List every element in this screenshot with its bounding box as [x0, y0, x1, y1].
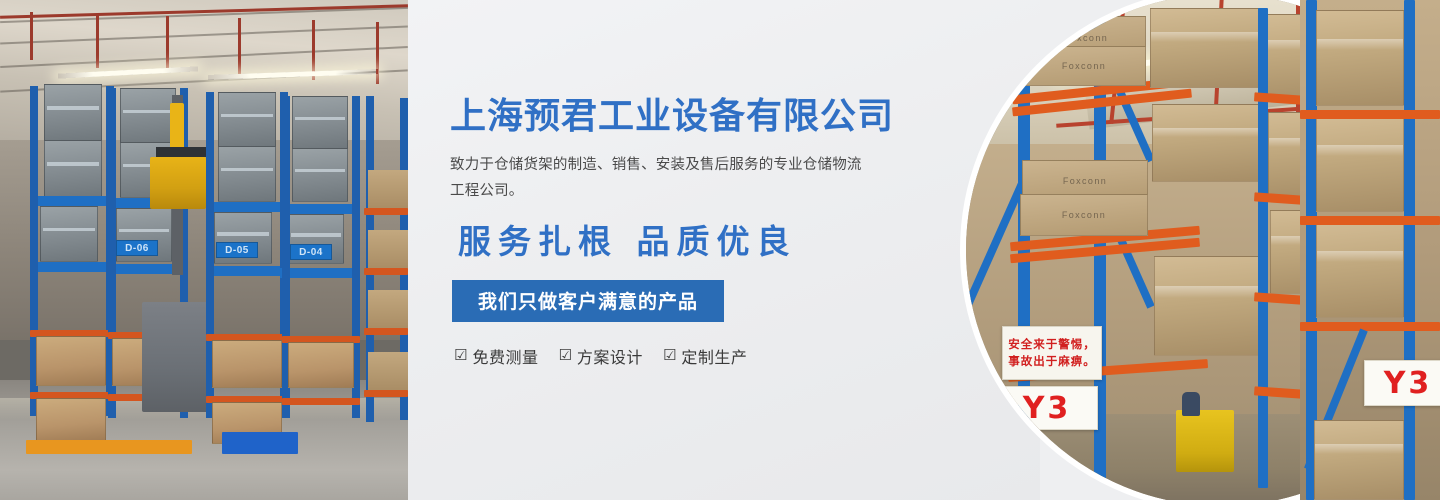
- palletized-load: [1154, 256, 1260, 356]
- rack-beam: [364, 390, 408, 397]
- stacked-tote: [44, 140, 102, 198]
- left-warehouse-photo: D-07 D-06 D: [0, 0, 408, 500]
- rack-beam: [364, 328, 408, 335]
- carton-box: [36, 398, 106, 442]
- sprinkler-drop: [238, 18, 241, 74]
- shelf-goods: [368, 290, 408, 330]
- sprinkler-drop: [30, 12, 33, 60]
- check-box-icon: ☑: [558, 348, 571, 363]
- palletized-load: [1316, 222, 1404, 318]
- picker-hook: [170, 103, 184, 149]
- palletized-load: [1152, 104, 1260, 182]
- feature-item-free-measure: ☑ 免费测量: [454, 344, 538, 368]
- right-photo-wrap: Foxconn Foxconn Foxconn Foxconn: [930, 0, 1440, 500]
- right-edge-photo-strip: Y3: [1300, 0, 1440, 500]
- company-title: 上海预君工业设备有限公司: [450, 96, 920, 137]
- rack-beam: [210, 202, 286, 212]
- company-description: 致力于仓储货架的制造、销售、安装及售后服务的专业仓储物流工程公司。: [450, 153, 865, 204]
- rack-upright: [1258, 8, 1268, 488]
- palletized-load: [1316, 10, 1404, 106]
- rack-beam: [280, 268, 358, 278]
- company-slogan: 服务扎根 品质优良: [450, 222, 920, 262]
- stacked-tote: [218, 146, 276, 202]
- foxconn-carton: Foxconn: [1022, 46, 1146, 86]
- rack-beam: [1300, 322, 1440, 331]
- rack-beam: [1300, 110, 1440, 119]
- stacked-tote: [40, 206, 98, 262]
- palletized-load: [1314, 420, 1404, 500]
- safety-sign-line-1: 安全来于警惕，: [1008, 336, 1096, 353]
- rack-beam: [206, 266, 286, 276]
- foxconn-carton: Foxconn: [1020, 194, 1148, 236]
- shelf-goods: [368, 170, 408, 210]
- feature-label: 方案设计: [577, 344, 643, 368]
- rack-label: D-05: [216, 242, 258, 258]
- stacked-tote: [218, 92, 276, 148]
- banner-content: 上海预君工业设备有限公司 致力于仓储货架的制造、销售、安装及售后服务的专业仓储物…: [450, 96, 920, 368]
- shelf-goods: [368, 230, 408, 270]
- blue-pallet: [222, 432, 298, 454]
- check-box-icon: ☑: [454, 348, 467, 363]
- carton-box: [288, 342, 354, 388]
- rack-beam: [284, 204, 358, 214]
- rack-beam: [36, 196, 112, 206]
- feature-item-plan-design: ☑ 方案设计: [558, 344, 642, 368]
- aisle-label-text: Y3: [1023, 391, 1072, 426]
- rack-beam: [282, 398, 360, 405]
- order-picker-machine: [148, 95, 208, 275]
- stacked-tote: [44, 84, 102, 142]
- picker-arm: [156, 147, 208, 157]
- safety-sign-line-2: 事故出于麻痹。: [1008, 353, 1096, 370]
- rack-beam: [364, 268, 408, 275]
- carton-box: [36, 336, 106, 386]
- shelf-goods: [368, 352, 408, 392]
- feature-list: ☑ 免费测量 ☑ 方案设计 ☑ 定制生产: [450, 344, 920, 368]
- forklift-operator: [1182, 392, 1200, 416]
- rack-foot: [100, 440, 192, 454]
- palletized-load: [1316, 116, 1404, 212]
- stacked-tote: [292, 148, 348, 202]
- sprinkler-drop: [166, 16, 169, 68]
- rack-upright: [1404, 0, 1415, 500]
- cta-button[interactable]: 我们只做客户满意的产品: [452, 280, 724, 322]
- feature-label: 免费测量: [472, 344, 538, 368]
- picker-base: [142, 302, 208, 412]
- aisle-label-sign-edge: Y3: [1364, 360, 1440, 406]
- palletized-load: [1150, 8, 1260, 88]
- sprinkler-drop: [376, 22, 379, 84]
- rack-beam: [1300, 216, 1440, 225]
- check-box-icon: ☑: [663, 348, 676, 363]
- forklift: [1176, 410, 1234, 472]
- rack-beam: [364, 208, 408, 215]
- safety-warning-sign: 安全来于警惕， 事故出于麻痹。: [1002, 326, 1102, 380]
- rack-beam: [32, 262, 112, 272]
- stacked-tote: [292, 96, 348, 150]
- picker-cab: [150, 157, 206, 209]
- rack-label: D-04: [290, 244, 332, 260]
- homepage-hero-banner: D-07 D-06 D: [0, 0, 1440, 500]
- aisle-label-sign: Y3: [996, 386, 1098, 430]
- carton-box: [212, 340, 282, 388]
- aisle-label-text-edge: Y3: [1384, 366, 1433, 401]
- sprinkler-drop: [96, 14, 99, 68]
- feature-item-custom-production: ☑ 定制生产: [663, 344, 747, 368]
- feature-label: 定制生产: [681, 344, 747, 368]
